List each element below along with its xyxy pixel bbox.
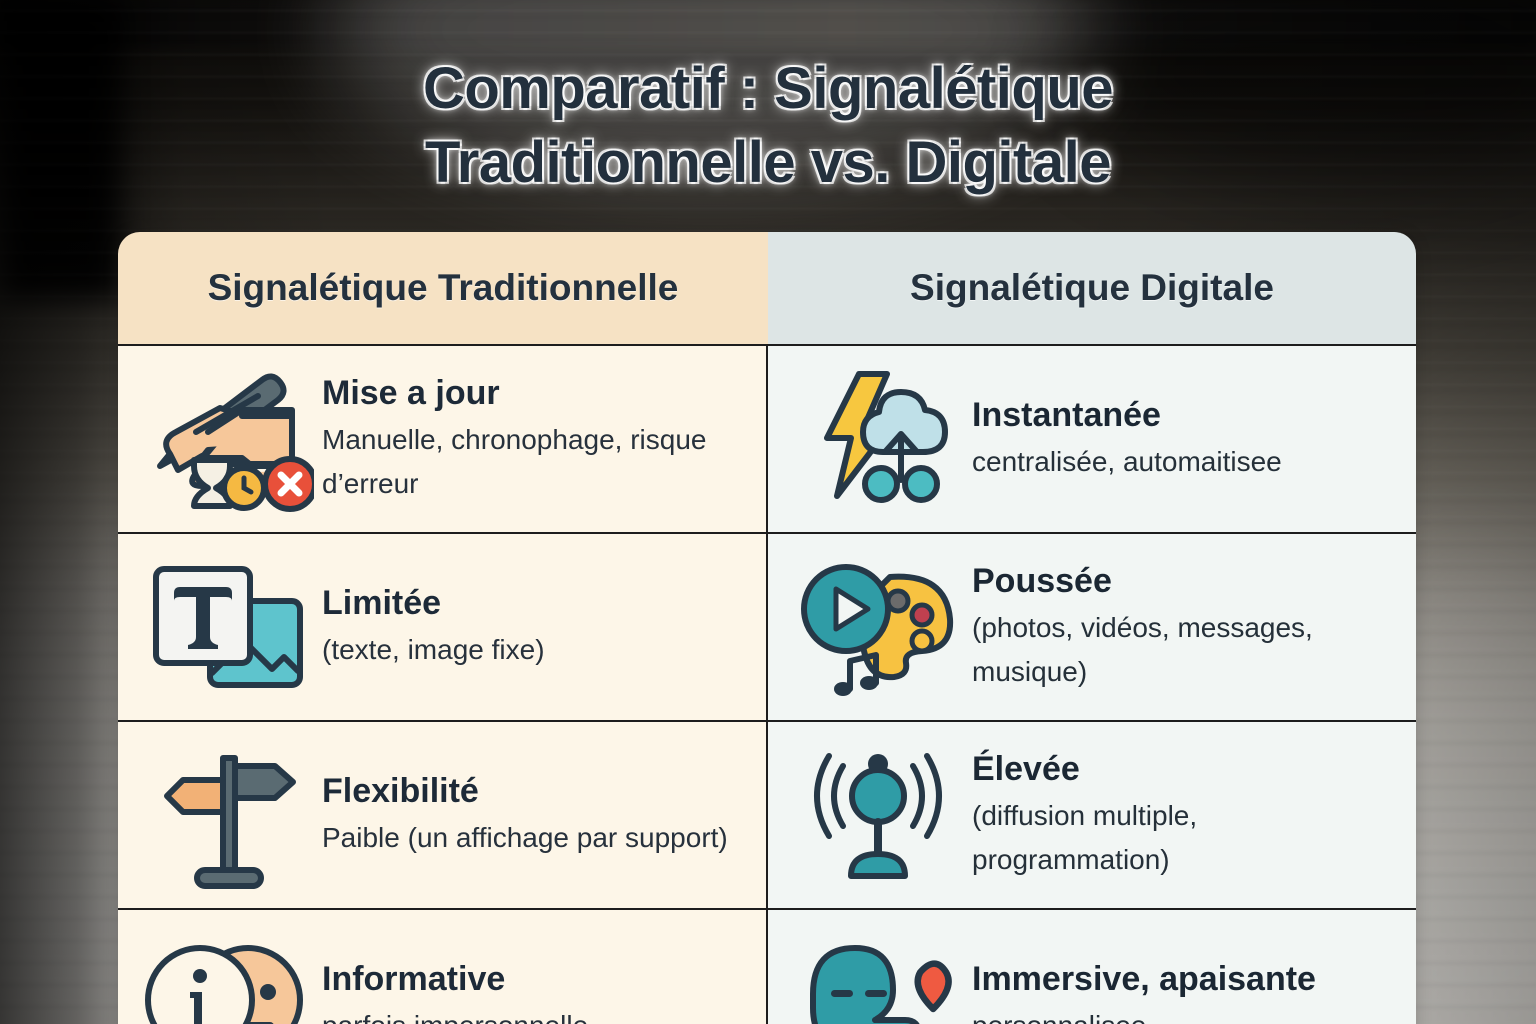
text-image-icon <box>140 552 316 702</box>
cell-digital: Poussée (photos, vidéos, messages, musiq… <box>768 534 1416 720</box>
cell-title: Flexibilité <box>322 770 748 812</box>
cell-subtitle: Paible (un affichage par support) <box>322 816 748 860</box>
cell-title: Informative <box>322 958 748 1000</box>
cell-subtitle: (texte, image fixe) <box>322 628 748 672</box>
cell-text: Instantanée centralisée, automaitisee <box>966 394 1398 484</box>
cell-traditional: Flexibilité Paible (un affichage par sup… <box>118 722 768 908</box>
broadcast-antenna-icon <box>790 740 966 890</box>
signpost-icon <box>140 740 316 890</box>
cell-text: Limitée (texte, image fixe) <box>316 582 748 672</box>
cell-text: Immersive, apaisante personnalisee <box>966 958 1398 1024</box>
table-row: Informative parfois impersonnelle <box>118 908 1416 1024</box>
cell-traditional: Limitée (texte, image fixe) <box>118 534 768 720</box>
cell-title: Limitée <box>322 582 748 624</box>
cell-title: Élevée <box>972 748 1398 790</box>
cell-subtitle: centralisée, automaitisee <box>972 440 1398 484</box>
cell-title: Immersive, apaisante <box>972 958 1398 1000</box>
table-body: Mise a jour Manuelle, chronophage, risqu… <box>118 344 1416 1024</box>
cell-subtitle: parfois impersonnelle <box>322 1004 748 1024</box>
cell-digital: Immersive, apaisante personnalisee <box>768 910 1416 1024</box>
cell-text: Mise a jour Manuelle, chronophage, risqu… <box>316 372 748 506</box>
cell-traditional: Mise a jour Manuelle, chronophage, risqu… <box>118 346 768 532</box>
page-title: Comparatif : Signalétique Traditionnelle… <box>0 52 1536 200</box>
table-header-row: Signalétique Traditionnelle Signalétique… <box>118 232 1416 344</box>
cell-digital: Élevée (diffusion multiple, programmatio… <box>768 722 1416 908</box>
cell-traditional: Informative parfois impersonnelle <box>118 910 768 1024</box>
cell-title: Poussée <box>972 560 1398 602</box>
cell-text: Poussée (photos, vidéos, messages, musiq… <box>966 560 1398 694</box>
cell-text: Élevée (diffusion multiple, programmatio… <box>966 748 1398 882</box>
table-row: Limitée (texte, image fixe) <box>118 532 1416 720</box>
cell-text: Informative parfois impersonnelle <box>316 958 748 1024</box>
cell-text: Flexibilité Paible (un affichage par sup… <box>316 770 748 860</box>
cell-subtitle: (diffusion multiple, programmation) <box>972 794 1398 882</box>
infographic-canvas: Comparatif : Signalétique Traditionnelle… <box>0 0 1536 1024</box>
table-row: Flexibilité Paible (un affichage par sup… <box>118 720 1416 908</box>
cell-digital: Instantanée centralisée, automaitisee <box>768 346 1416 532</box>
happy-face-heart-icon <box>790 928 966 1024</box>
cell-title: Mise a jour <box>322 372 748 414</box>
info-neutral-face-icon <box>140 928 316 1024</box>
cell-title: Instantanée <box>972 394 1398 436</box>
column-header-digital: Signalétique Digitale <box>768 232 1416 344</box>
column-header-traditional: Signalétique Traditionnelle <box>118 232 768 344</box>
hand-writing-pen-icon <box>140 364 316 514</box>
table-row: Mise a jour Manuelle, chronophage, risqu… <box>118 344 1416 532</box>
lightning-cloud-upload-icon <box>790 364 966 514</box>
cell-subtitle: (photos, vidéos, messages, musique) <box>972 606 1398 694</box>
comparison-table: Signalétique Traditionnelle Signalétique… <box>118 232 1416 1024</box>
cell-subtitle: personnalisee <box>972 1004 1398 1024</box>
cell-subtitle: Manuelle, chronophage, risque d’erreur <box>322 418 748 506</box>
play-palette-music-icon <box>790 552 966 702</box>
